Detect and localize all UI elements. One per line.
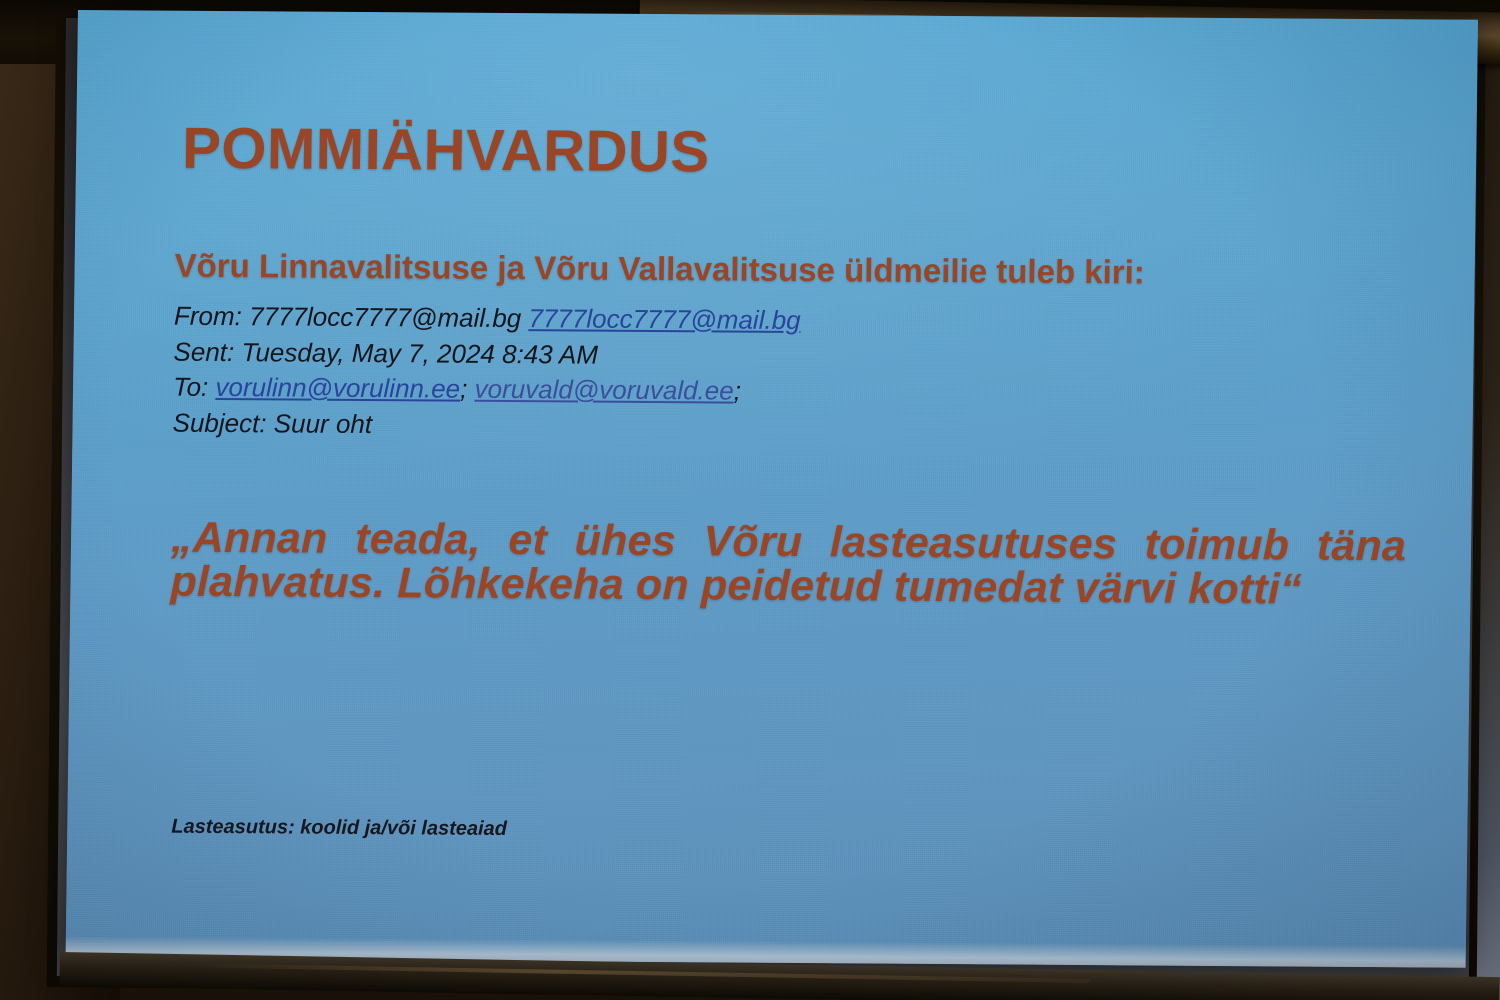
room-scene: GrandView POMMIÄHVARDUS Võru Linnavalits… (0, 0, 1500, 1000)
from-label: From: (174, 301, 242, 331)
to-address-link-1[interactable]: vorulinn@vorulinn.ee (215, 372, 460, 404)
from-value: 7777locc7777@mail.bg (249, 301, 522, 333)
slide-subtitle: Võru Linnavalitsuse ja Võru Vallavalitsu… (174, 247, 1145, 292)
slide-content: POMMIÄHVARDUS Võru Linnavalitsuse ja Võr… (66, 10, 1478, 968)
from-address-link[interactable]: 7777locc7777@mail.bg (528, 303, 801, 335)
subject-label: Subject: (172, 407, 266, 438)
to-separator-2: ; (734, 376, 742, 406)
to-separator-1: ; (460, 374, 468, 404)
threat-quote: „Annan teada, et ühes Võru lasteasutuses… (170, 516, 1406, 613)
slide-footnote: Lasteasutus: koolid ja/või lasteaiad (171, 816, 507, 841)
sent-value: Tuesday, May 7, 2024 8:43 AM (241, 337, 598, 369)
sent-label: Sent: (173, 336, 234, 366)
slide-title: POMMIÄHVARDUS (182, 115, 710, 186)
slide-surface: POMMIÄHVARDUS Võru Linnavalitsuse ja Võr… (66, 10, 1478, 968)
subject-value: Suur oht (274, 408, 373, 439)
to-label: To: (173, 372, 209, 402)
threat-quote-text: „Annan teada, et ühes Võru lasteasutuses… (170, 514, 1406, 614)
projected-slide: POMMIÄHVARDUS Võru Linnavalitsuse ja Võr… (66, 10, 1478, 968)
email-header-subject: Subject: Suur oht (172, 405, 1322, 449)
to-address-link-2[interactable]: voruvald@voruvald.ee (474, 374, 733, 406)
email-header-block: From: 7777locc7777@mail.bg 7777locc7777@… (172, 299, 1324, 449)
